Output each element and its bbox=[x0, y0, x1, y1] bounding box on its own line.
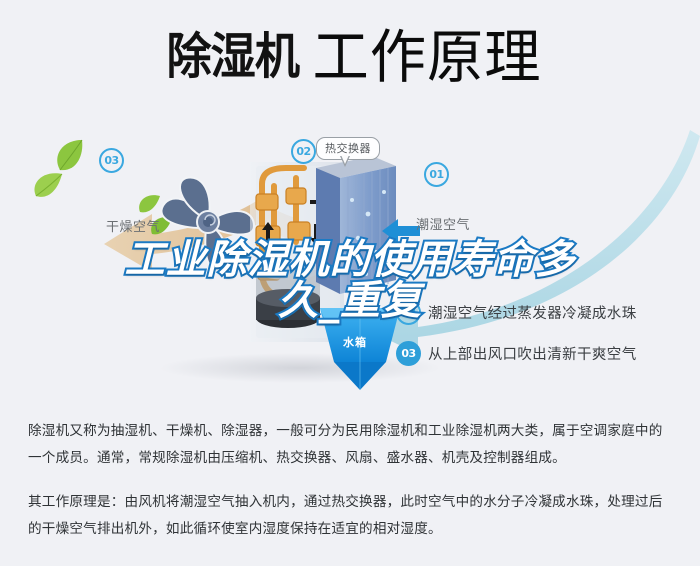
title-part-one: 除湿机 bbox=[167, 32, 299, 81]
diagram-badge-02: 02 bbox=[291, 139, 316, 164]
heat-exchanger bbox=[316, 156, 420, 294]
body-paragraph-2: 其工作原理是：由风机将潮湿空气抽入机内，通过热交换器，此时空气中的水分子冷凝成水… bbox=[28, 489, 676, 542]
legend-badge-02: 02 bbox=[396, 300, 421, 325]
label-water-tank: 水箱 bbox=[343, 334, 367, 350]
callout-tail-icon bbox=[340, 156, 350, 167]
fan-icon bbox=[161, 177, 254, 268]
page-title: 除湿机工作原理 bbox=[0, 28, 700, 86]
label-humid-air: 潮湿空气 bbox=[416, 214, 470, 233]
body-paragraph-1: 除湿机又称为抽湿机、干燥机、除湿器，一般可分为民用除湿机和工业除湿机两大类，属于… bbox=[28, 418, 676, 471]
legend-label-02: 潮湿空气经过蒸发器冷凝成水珠 bbox=[428, 302, 637, 323]
page-root: 除湿机工作原理 bbox=[0, 0, 700, 566]
legend-item: 03 从上部出风口吹出清新干爽空气 bbox=[396, 341, 637, 366]
leaf-icon bbox=[139, 195, 160, 212]
legend-badge-03: 03 bbox=[396, 341, 421, 366]
compressor bbox=[256, 260, 320, 328]
title-part-two: 工作原理 bbox=[313, 28, 542, 86]
leaf-icon bbox=[34, 173, 62, 197]
diagram-legend: 02 潮湿空气经过蒸发器冷凝成水珠 03 从上部出风口吹出清新干爽空气 bbox=[396, 300, 637, 382]
diagram-badge-01: 01 bbox=[424, 162, 449, 187]
diagram-badge-03: 03 bbox=[99, 148, 124, 173]
legend-item: 02 潮湿空气经过蒸发器冷凝成水珠 bbox=[396, 300, 637, 325]
article-body: 除湿机又称为抽湿机、干燥机、除湿器，一般可分为民用除湿机和工业除湿机两大类，属于… bbox=[28, 418, 676, 552]
label-dry-air: 干燥空气 bbox=[106, 216, 160, 235]
legend-label-03: 从上部出风口吹出清新干爽空气 bbox=[428, 343, 637, 364]
